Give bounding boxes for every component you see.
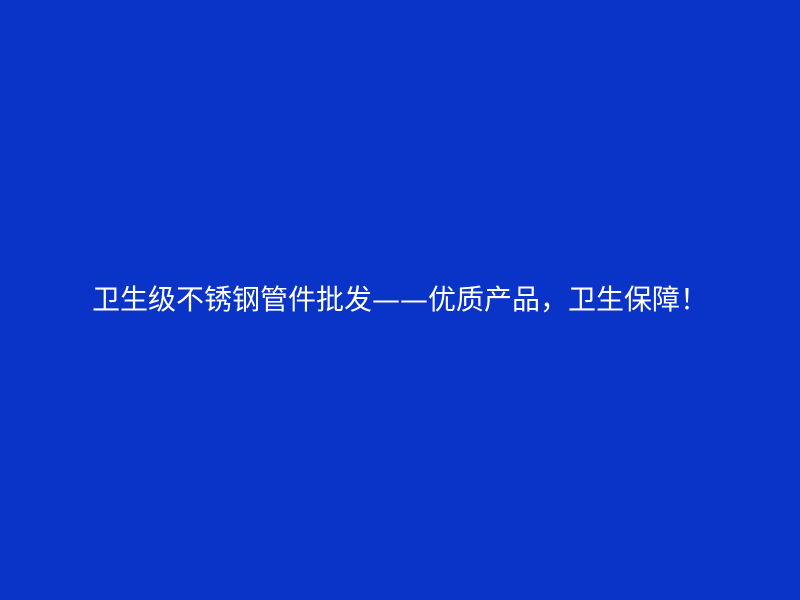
banner-headline: 卫生级不锈钢管件批发——优质产品，卫生保障！ [0, 282, 800, 318]
promo-banner: 卫生级不锈钢管件批发——优质产品，卫生保障！ [0, 0, 800, 600]
